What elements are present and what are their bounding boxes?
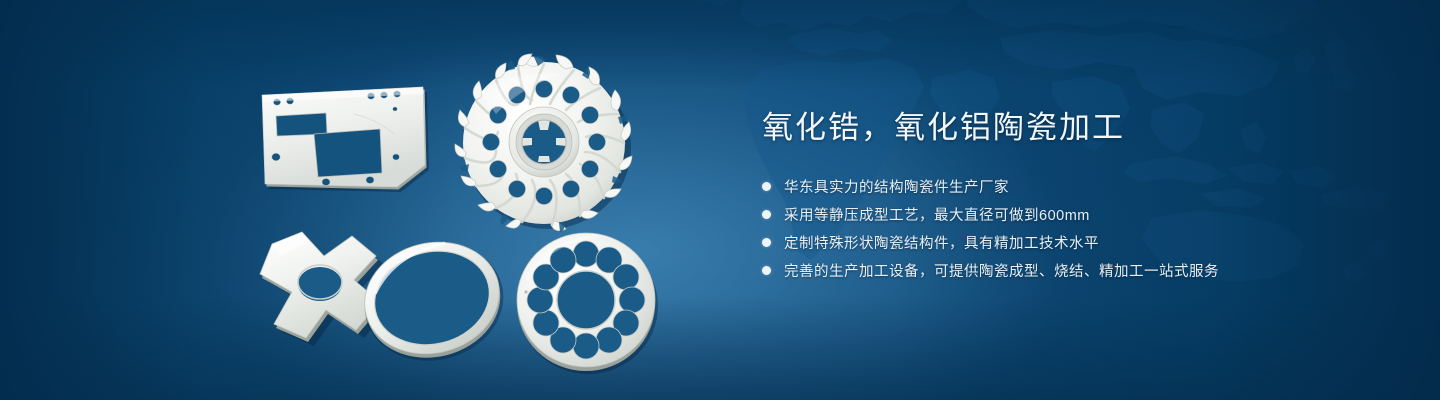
ceramic-impeller-image [452,52,636,234]
banner-copy: 氧化锆，氧化铝陶瓷加工 华东具实力的结构陶瓷件生产厂家 采用等静压成型工艺，最大… [762,108,1382,287]
feature-text: 完善的生产加工设备，可提供陶瓷成型、烧结、精加工一站式服务 [784,260,1219,281]
ceramic-ring-image [348,228,516,364]
bullet-dot-icon [762,182,771,191]
banner-feature-list: 华东具实力的结构陶瓷件生产厂家 采用等静压成型工艺，最大直径可做到600mm 定… [762,175,1382,282]
feature-text: 定制特殊形状陶瓷结构件，具有精加工技术水平 [784,232,1099,253]
list-item: 采用等静压成型工艺，最大直径可做到600mm [762,203,1382,226]
banner-headline: 氧化锆，氧化铝陶瓷加工 [762,108,1382,148]
list-item: 完善的生产加工设备，可提供陶瓷成型、烧结、精加工一站式服务 [762,259,1382,282]
hero-banner: 氧化锆，氧化铝陶瓷加工 华东具实力的结构陶瓷件生产厂家 采用等静压成型工艺，最大… [0,0,1440,400]
ceramic-valve-plate-image [512,228,664,376]
list-item: 定制特殊形状陶瓷结构件，具有精加工技术水平 [762,231,1382,254]
bullet-dot-icon [762,210,771,219]
feature-text: 华东具实力的结构陶瓷件生产厂家 [784,176,1009,197]
feature-text: 采用等静压成型工艺，最大直径可做到600mm [784,204,1090,225]
ceramic-plate-image [258,86,426,190]
bullet-dot-icon [762,266,771,275]
bullet-dot-icon [762,238,771,247]
list-item: 华东具实力的结构陶瓷件生产厂家 [762,175,1382,198]
product-photo-group [0,0,760,400]
